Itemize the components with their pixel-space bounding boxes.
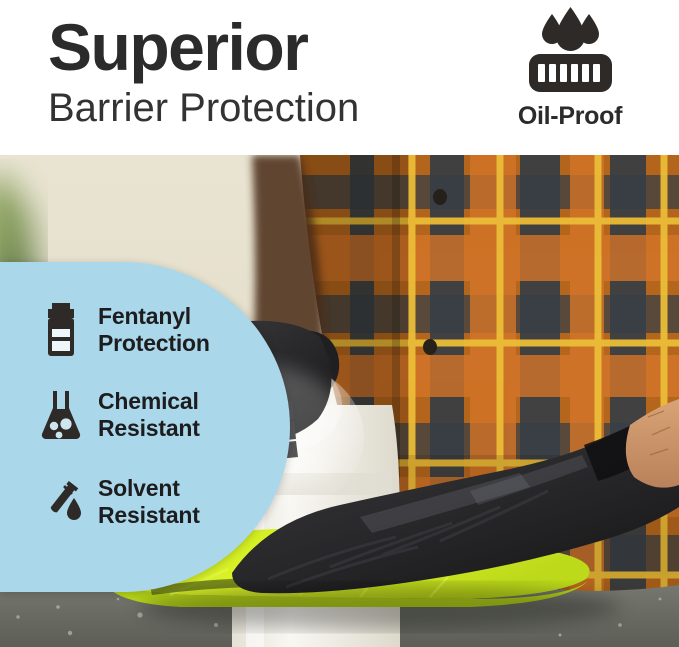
- feature-item-label: Fentanyl Protection: [98, 303, 210, 356]
- flask-icon: [38, 387, 84, 443]
- oil-proof-badge-label: Oil-Proof: [495, 102, 645, 131]
- headline-block: Superior Barrier Protection: [48, 14, 448, 131]
- page-title: Superior: [48, 14, 448, 81]
- feature-item-label: Solvent Resistant: [98, 475, 200, 528]
- feature-item-fentanyl-protection: Fentanyl Protection: [38, 302, 210, 358]
- feature-item-label: Chemical Resistant: [98, 388, 200, 441]
- oil-proof-badge: Oil-Proof: [495, 6, 645, 131]
- product-feature-banner: Superior Barrier Protection: [0, 0, 679, 647]
- vial-icon: [38, 302, 84, 358]
- page-subtitle: Barrier Protection: [48, 85, 448, 131]
- header-bar: Superior Barrier Protection: [0, 0, 679, 155]
- test-tube-icon: [38, 474, 84, 530]
- feature-item-chemical-resistant: Chemical Resistant: [38, 387, 200, 443]
- feature-item-solvent-resistant: Solvent Resistant: [38, 474, 200, 530]
- oil-droplets-on-fabric-icon: [495, 6, 645, 98]
